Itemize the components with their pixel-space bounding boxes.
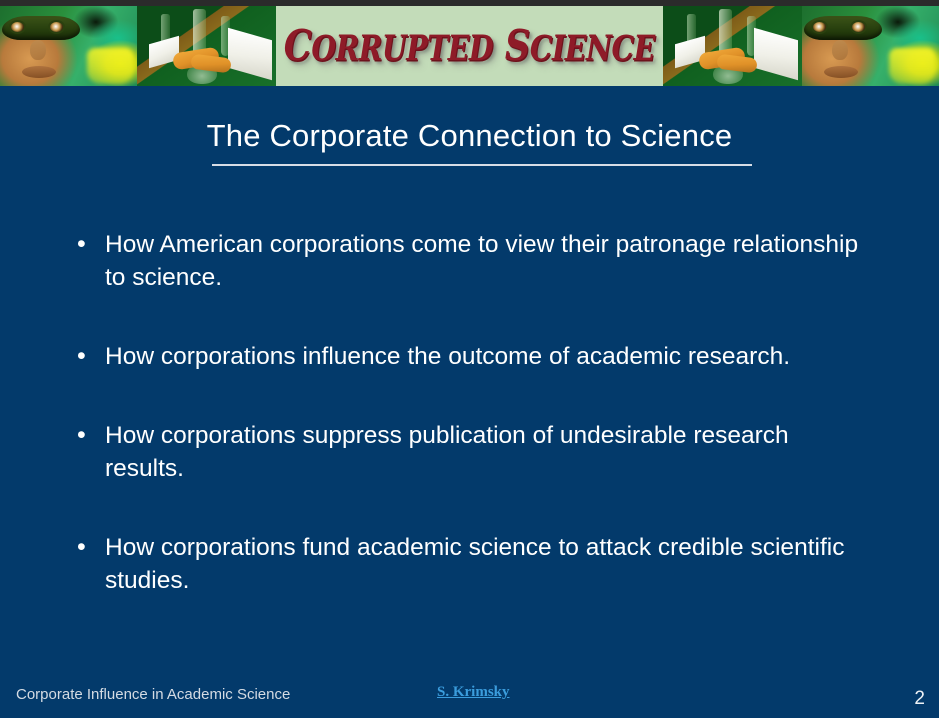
masked-face-image-left [0,6,137,86]
header-banner: CORRUPTED SCIENCE [0,6,939,86]
bullet-text: How American corporations come to view t… [105,228,865,294]
footer-presentation-title: Corporate Influence in Academic Science [16,686,290,703]
list-item: • How corporations suppress publication … [70,419,900,485]
bullet-marker: • [70,531,105,564]
flask-glow-decor [87,48,133,84]
footer-author-link[interactable]: S. Krimsky [437,684,510,701]
title-underline-rule [212,164,752,166]
eye-left [11,22,24,32]
eye-right [50,22,63,32]
masked-face-image-right [802,6,939,86]
mouth-shape [824,66,858,78]
bullet-marker: • [70,340,105,373]
presentation-slide: CORRUPTED SCIENCE The Corporate Connecti… [0,0,939,718]
nose-shape [30,40,46,60]
eye-right [852,22,865,32]
list-item: • How corporations fund academic science… [70,531,900,597]
slide-title: The Corporate Connection to Science [0,118,939,154]
bullet-marker: • [70,228,105,261]
bullet-text: How corporations suppress publication of… [105,419,865,485]
handshake-image-left [137,6,276,86]
bullet-text: How corporations influence the outcome o… [105,340,865,373]
list-item: • How corporations influence the outcome… [70,340,900,373]
list-item: • How American corporations come to view… [70,228,900,294]
shirt-cuff-decor [754,28,798,81]
nose-shape [832,40,848,60]
bullet-marker: • [70,419,105,452]
eye-left [813,22,826,32]
page-number: 2 [914,688,925,710]
flask-glow-decor [889,48,935,84]
banner-title-panel: CORRUPTED SCIENCE [276,6,663,86]
mouth-shape [22,66,56,78]
banner-title-text: CORRUPTED SCIENCE [284,21,655,71]
bullet-list: • How American corporations come to view… [70,228,900,643]
bullet-text: How corporations fund academic science t… [105,531,865,597]
shirt-cuff-decor [228,28,272,81]
handshake-image-right [663,6,802,86]
